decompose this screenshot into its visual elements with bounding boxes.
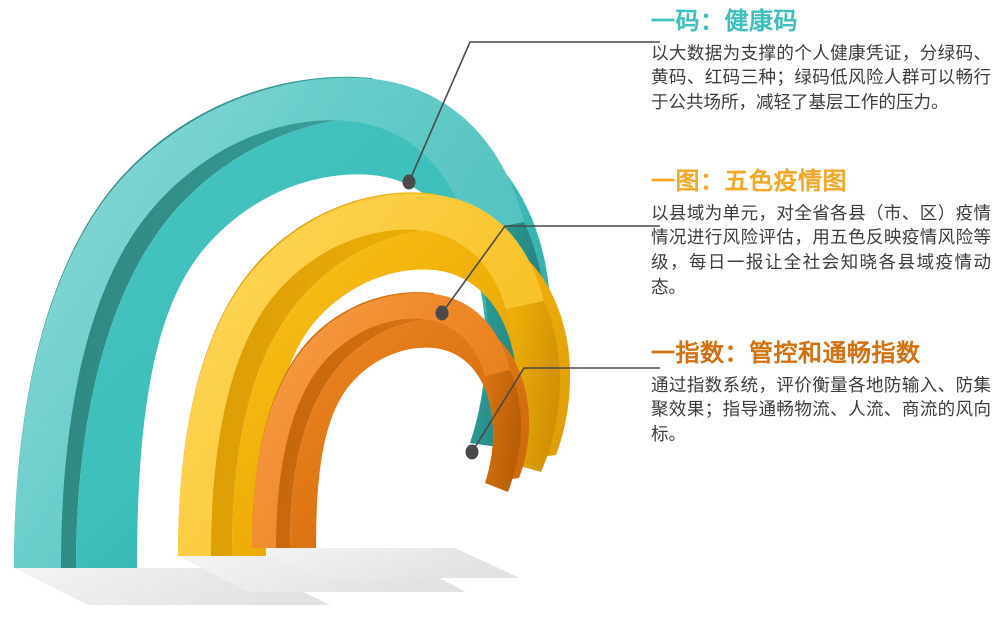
callout-dot-middle[interactable] <box>436 306 449 321</box>
callout-body-control-index: 通过指数系统，评价衡量各地防输入、防集聚效果；指导通畅物流、人流、商流的风向标。 <box>651 374 991 449</box>
callout-title-five-color-map: 一图：五色疫情图 <box>651 168 991 196</box>
callout-text-column: 一码：健康码 以大数据为支撑的个人健康凭证，分绿码、黄码、红码三种；绿码低风险人… <box>651 0 997 621</box>
callout-title-health-code: 一码：健康码 <box>651 8 991 36</box>
callout-body-five-color-map: 以县域为单元，对全省各县（市、区）疫情情况进行风险评估，用五色反映疫情风险等级，… <box>651 202 991 301</box>
callout-title-control-index: 一指数：管控和通畅指数 <box>651 340 991 368</box>
callout-five-color-map: 一图：五色疫情图 以县域为单元，对全省各县（市、区）疫情情况进行风险评估，用五色… <box>651 168 991 301</box>
callout-dot-outer[interactable] <box>403 175 416 190</box>
callout-control-index: 一指数：管控和通畅指数 通过指数系统，评价衡量各地防输入、防集聚效果；指导通畅物… <box>651 340 991 448</box>
infographic-canvas: 一码：健康码 以大数据为支撑的个人健康凭证，分绿码、黄码、红码三种；绿码低风险人… <box>0 0 997 621</box>
callout-body-health-code: 以大数据为支撑的个人健康凭证，分绿码、黄码、红码三种；绿码低风险人群可以畅行于公… <box>651 42 991 117</box>
callout-health-code: 一码：健康码 以大数据为支撑的个人健康凭证，分绿码、黄码、红码三种；绿码低风险人… <box>651 8 991 116</box>
layered-dome-diagram <box>0 0 660 621</box>
callout-dot-inner[interactable] <box>466 445 479 460</box>
